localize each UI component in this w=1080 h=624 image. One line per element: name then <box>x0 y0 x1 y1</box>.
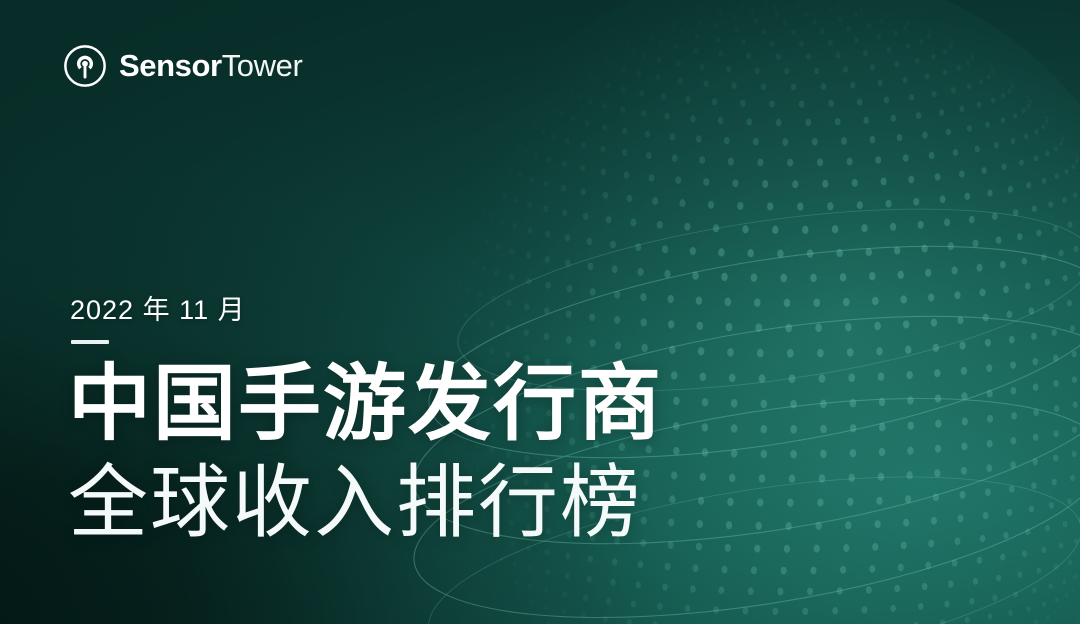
report-date: 2022 年 11 月 <box>70 288 246 327</box>
logo-word-tower: Tower <box>222 48 303 83</box>
headline-line-1: 中国手游发行商 <box>68 362 768 447</box>
sensor-tower-circle-antenna-icon <box>62 43 108 89</box>
logo-word-sensor: Sensor <box>119 48 222 83</box>
date-divider-rule <box>71 340 109 344</box>
cover-headline: 中国手游发行商 全球收入排行榜 <box>68 362 768 545</box>
headline-line-2: 全球收入排行榜 <box>68 461 768 545</box>
logo-wordmark: SensorTower <box>119 50 302 83</box>
sensor-tower-logo: SensorTower <box>62 40 302 92</box>
cover-poster: SensorTower 2022 年 11 月 中国手游发行商 全球收入排行榜 <box>0 0 1080 624</box>
